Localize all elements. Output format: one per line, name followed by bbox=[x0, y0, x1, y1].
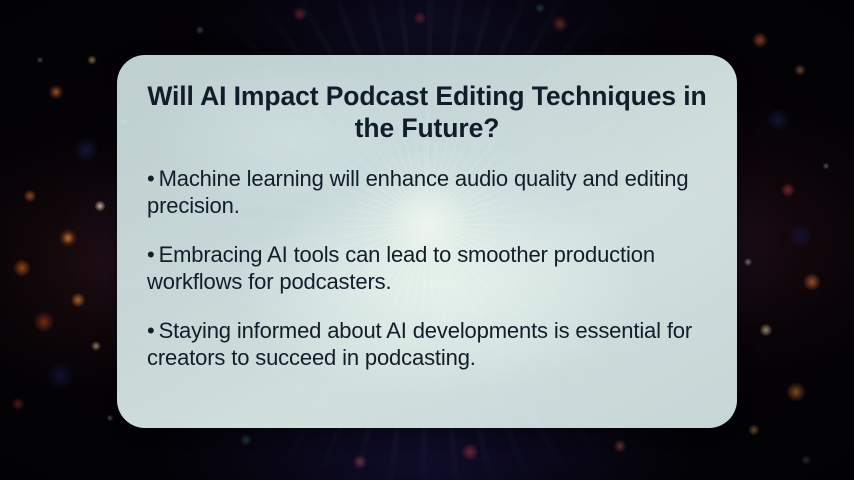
bullet-text-2: Embracing AI tools can lead to smoother … bbox=[147, 242, 655, 295]
bullet-marker-icon: • bbox=[147, 242, 155, 267]
bullet-list: •Machine learning will enhance audio qua… bbox=[139, 165, 715, 372]
bullet-marker-icon: • bbox=[147, 166, 155, 191]
slide-title: Will AI Impact Podcast Editing Technique… bbox=[139, 81, 715, 145]
card-content: Will AI Impact Podcast Editing Technique… bbox=[139, 81, 715, 372]
content-card: Will AI Impact Podcast Editing Technique… bbox=[117, 55, 737, 428]
presentation-slide: Will AI Impact Podcast Editing Technique… bbox=[0, 0, 854, 480]
bullet-marker-icon: • bbox=[147, 318, 155, 343]
bullet-text-3: Staying informed about AI developments i… bbox=[147, 318, 692, 371]
bullet-item-1: •Machine learning will enhance audio qua… bbox=[139, 165, 715, 220]
bullet-item-2: •Embracing AI tools can lead to smoother… bbox=[139, 241, 715, 296]
bullet-text-1: Machine learning will enhance audio qual… bbox=[147, 166, 688, 219]
bullet-item-3: •Staying informed about AI developments … bbox=[139, 317, 715, 372]
